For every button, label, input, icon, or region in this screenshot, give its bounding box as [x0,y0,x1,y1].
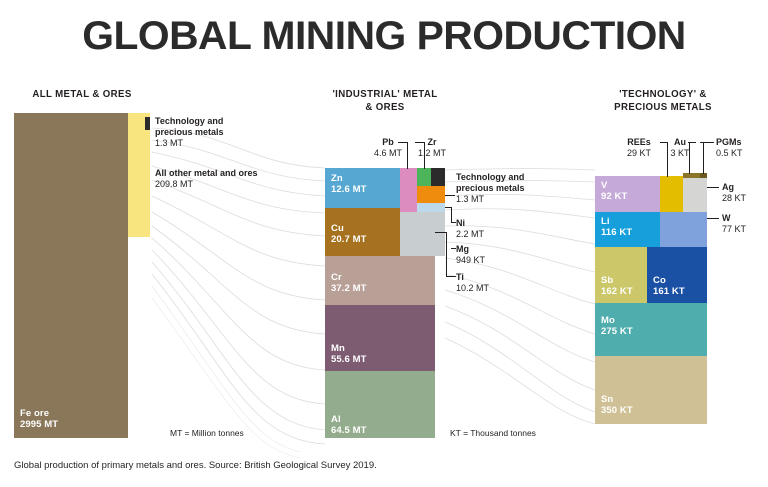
bar-segment-technology-precious-left [145,117,150,130]
bar-label-cu-value: 20.7 MT [331,234,367,245]
annotation-ti: Ti 10.2 MT [456,272,489,294]
annotation-ag: Ag 28 KT [722,182,746,204]
annotation-tech-left-name: Technology and [155,116,224,127]
column-heading-industrial-metal-ores: 'INDUSTRIAL' METAL & ORES [316,88,454,114]
bar-label-co-value: 161 KT [653,286,685,297]
bar-label-v-name: V [601,180,607,191]
bar-segment-ti [400,212,445,256]
bar-segment-fe-ore: Fe ore 2995 MT [14,113,128,438]
bar-label-sn-name: Sn [601,394,613,405]
bar-segment-zn: Zn 12.6 MT [325,168,400,208]
leader-ti-vertical [446,232,447,277]
bar-segment-li: Li 116 KT [595,212,660,247]
annotation-technology-precious-mid: Technology and precious metals 1.3 MT [456,172,525,205]
annotation-ti-name: Ti [456,272,489,283]
bar-label-mo-name: Mo [601,315,615,326]
leader-pb-vertical [407,142,408,169]
annotation-zr: Zr 1.2 MT [412,137,452,159]
bar-segment-sn: Sn 350 KT [595,356,707,424]
annotation-tech-mid-value: 1.3 MT [456,194,525,205]
bar-label-al-value: 64.5 MT [331,425,367,436]
annotation-tech-mid-name: Technology and [456,172,525,183]
annotation-pgms-name: PGMs [716,137,743,148]
bar-label-sb-name: Sb [601,275,613,286]
annotation-w: W 77 KT [722,213,746,235]
source-caption: Global production of primary metals and … [14,460,377,471]
leader-pgms-vertical [703,142,704,174]
bar-segment-sb: Sb 162 KT [595,247,647,303]
bar-segment-technology-precious-mid [431,168,445,186]
annotation-mg-value: 949 KT [456,255,485,266]
annotation-tech-mid-name2: precious metals [456,183,525,194]
bar-segment-al: Al 64.5 MT [325,371,435,438]
bar-segment-cr: Cr 37.2 MT [325,256,435,305]
leader-ni-vertical [451,207,452,223]
bar-label-cr-name: Cr [331,272,342,283]
bar-segment-cu: Cu 20.7 MT [325,208,400,256]
bar-segment-rees [660,176,683,212]
annotation-pb: Pb 4.6 MT [368,137,408,159]
bar-segment-mg [417,186,445,203]
leader-tech-mid-horizontal [445,195,455,196]
bar-segment-co: Co 161 KT [647,247,707,303]
annotation-pgms-value: 0.5 KT [716,148,743,159]
annotation-w-value: 77 KT [722,224,746,235]
leader-au-vertical [689,142,690,174]
bar-label-co-name: Co [653,275,666,286]
annotation-au: Au 3 KT [663,137,697,159]
bar-segment-zr [417,168,431,186]
bar-label-zn-name: Zn [331,173,343,184]
bar-label-fe-ore-name: Fe ore [20,408,49,419]
bar-label-sb-value: 162 KT [601,286,633,297]
annotation-au-value: 3 KT [663,148,697,159]
column-heading-all-metal-ores: ALL METAL & ORES [19,88,144,101]
annotation-zr-value: 1.2 MT [412,148,452,159]
bar-label-al-name: Al [331,414,341,425]
annotation-all-other-metal-ores: All other metal and ores 209.8 MT [155,168,258,190]
column-heading-technology-line2: PRECIOUS METALS [614,101,712,113]
bar-label-mn-value: 55.6 MT [331,354,367,365]
leader-zr-vertical [424,142,425,169]
annotation-tech-left-name2: precious metals [155,127,224,138]
bar-label-zn-value: 12.6 MT [331,184,367,195]
annotation-mg-name: Mg [456,244,485,255]
bar-label-li-name: Li [601,216,610,227]
bar-segment-w [660,212,707,247]
column-heading-industrial-line1: 'INDUSTRIAL' METAL [333,88,438,100]
annotation-ag-name: Ag [722,182,746,193]
bar-segment-ni [417,203,445,212]
bar-label-fe-ore-value: 2995 MT [20,419,58,430]
bar-label-cu-name: Cu [331,223,344,234]
bar-label-cr-value: 37.2 MT [331,283,367,294]
bar-segment-mn: Mn 55.6 MT [325,305,435,371]
annotation-ti-value: 10.2 MT [456,283,489,294]
bar-label-mn-name: Mn [331,343,345,354]
annotation-w-name: W [722,213,746,224]
infographic-root: GLOBAL MINING PRODUCTION ALL METAL & ORE… [0,0,768,487]
annotation-pb-value: 4.6 MT [368,148,408,159]
leader-ti-horizontal-b [446,276,456,277]
leader-ni-horizontal-b [451,222,456,223]
bar-label-li-value: 116 KT [601,227,632,238]
page-title: GLOBAL MINING PRODUCTION [0,14,768,58]
footnote-mt: MT = Million tonnes [170,428,244,438]
leader-mg-horizontal [451,248,456,249]
annotation-other-left-name: All other metal and ores [155,168,258,179]
bar-segment-mo: Mo 275 KT [595,303,707,356]
annotation-rees-value: 29 KT [615,148,663,159]
annotation-rees-name: REEs [615,137,663,148]
leader-w-horizontal [707,218,719,219]
bar-label-mo-value: 275 KT [601,326,633,337]
annotation-ni-value: 2.2 MT [456,229,484,240]
column-heading-technology-line1: 'TECHNOLOGY' & [619,88,707,100]
annotation-mg: Mg 949 KT [456,244,485,266]
bar-label-sn-value: 350 KT [601,405,633,416]
bar-segment-all-other-metal-ores [128,113,150,237]
annotation-ni-name: Ni [456,218,484,229]
annotation-tech-left-value: 1.3 MT [155,138,224,149]
annotation-ag-value: 28 KT [722,193,746,204]
annotation-other-left-value: 209.8 MT [155,179,258,190]
annotation-technology-precious-left: Technology and precious metals 1.3 MT [155,116,224,149]
leader-ag-horizontal [707,187,719,188]
column-heading-technology-precious-metals: 'TECHNOLOGY' & PRECIOUS METALS [594,88,732,114]
annotation-rees: REEs 29 KT [615,137,663,159]
footnote-kt: KT = Thousand tonnes [450,428,536,438]
bar-label-v-value: 92 KT [601,191,627,202]
bar-segment-v: V 92 KT [595,176,660,212]
annotation-pgms: PGMs 0.5 KT [716,137,743,159]
annotation-ni: Ni 2.2 MT [456,218,484,240]
bar-segment-ag [683,178,707,212]
column-heading-industrial-line2: & ORES [365,101,404,113]
